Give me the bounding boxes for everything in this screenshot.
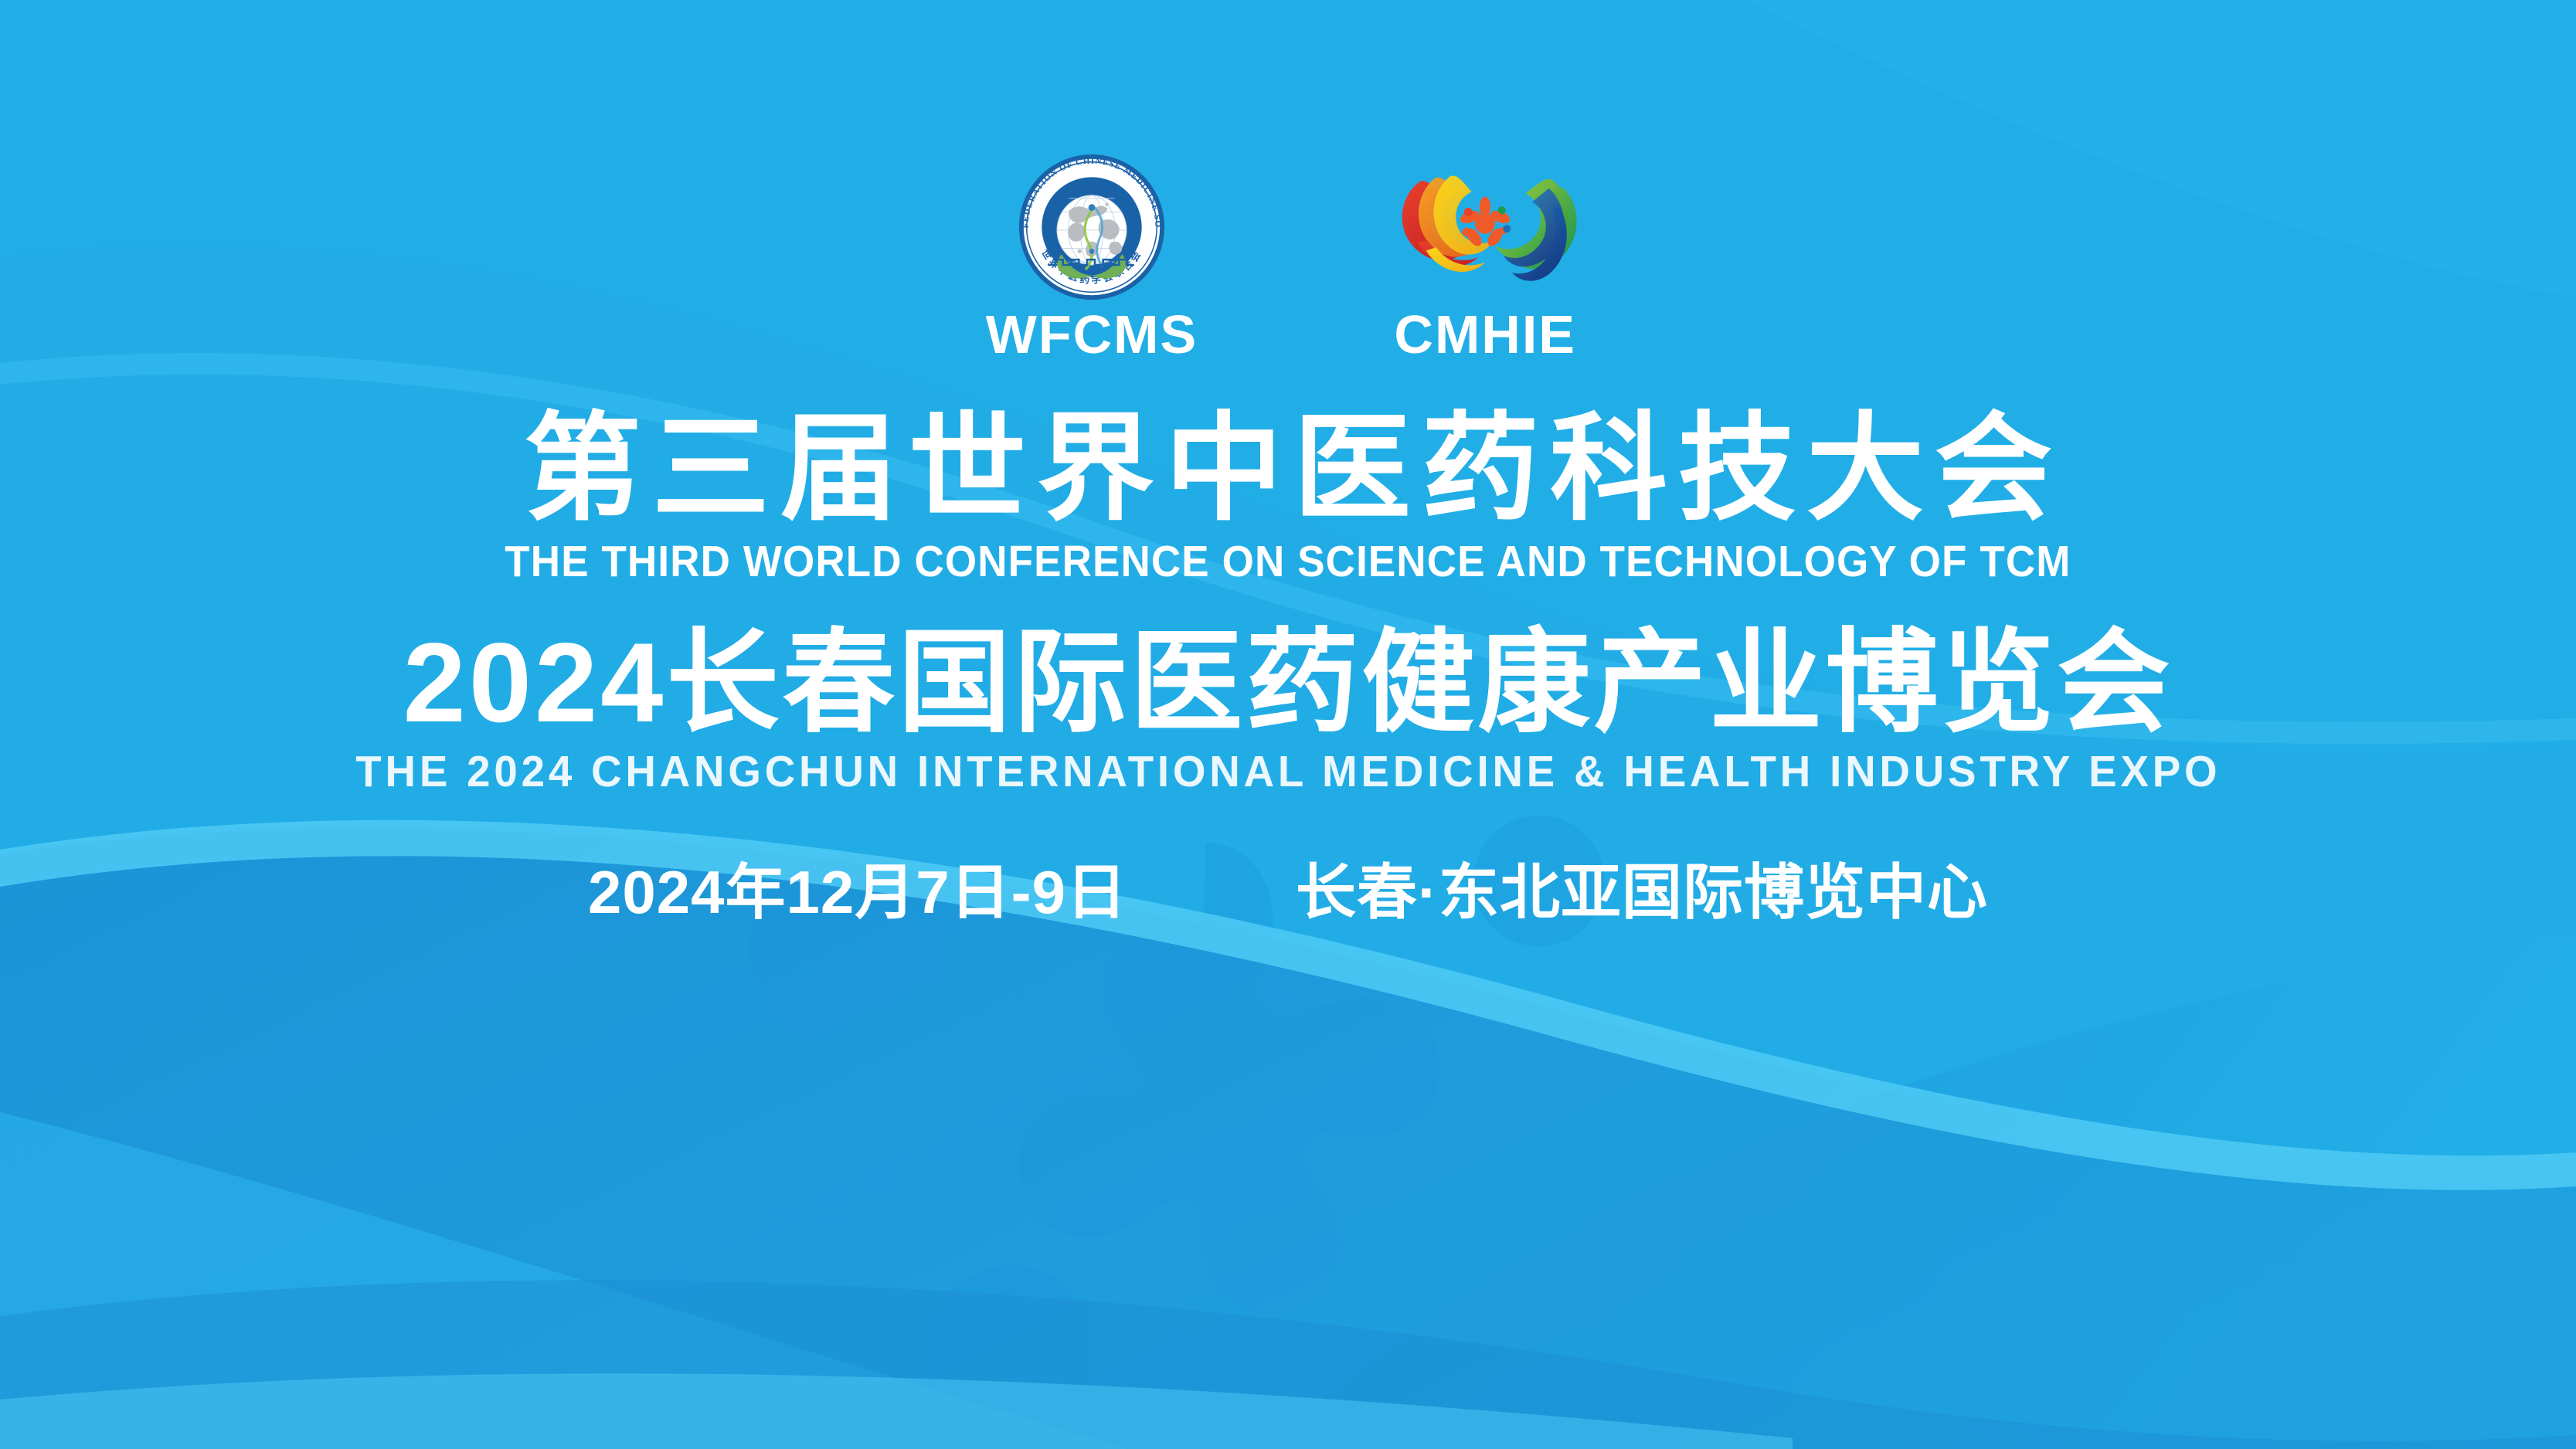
logo-wfcms: WORLD FEDERATION OF CHINESE MEDICINE SOC… <box>986 151 1198 361</box>
cmhie-heart-ribbon-icon <box>1380 151 1590 303</box>
logo-row: WORLD FEDERATION OF CHINESE MEDICINE SOC… <box>986 151 1590 361</box>
expo-title-en: THE 2024 CHANGCHUN INTERNATIONAL MEDICIN… <box>355 750 2221 794</box>
cmhie-wordmark: CMHIE <box>1394 307 1576 361</box>
poster-content: WORLD FEDERATION OF CHINESE MEDICINE SOC… <box>0 0 2576 1449</box>
expo-title-cn: 2024长春国际医药健康产业博览会 <box>403 626 2173 741</box>
logo-cmhie: CMHIE <box>1380 151 1590 361</box>
wfcms-emblem-icon: WORLD FEDERATION OF CHINESE MEDICINE SOC… <box>992 151 1191 303</box>
conference-title-en: THE THIRD WORLD CONFERENCE ON SCIENCE AN… <box>505 540 2071 584</box>
conference-title-cn: 第三届世界中医药科技大会 <box>513 409 2063 529</box>
conference-poster: WORLD FEDERATION OF CHINESE MEDICINE SOC… <box>0 0 2576 1449</box>
wfcms-wordmark: WFCMS <box>986 307 1198 361</box>
meta-row: 2024年12月7日-9日 长春·东北亚国际博览中心 <box>588 862 1988 922</box>
event-venue: 长春·东北亚国际博览中心 <box>1296 862 1988 922</box>
event-date: 2024年12月7日-9日 <box>588 862 1127 922</box>
